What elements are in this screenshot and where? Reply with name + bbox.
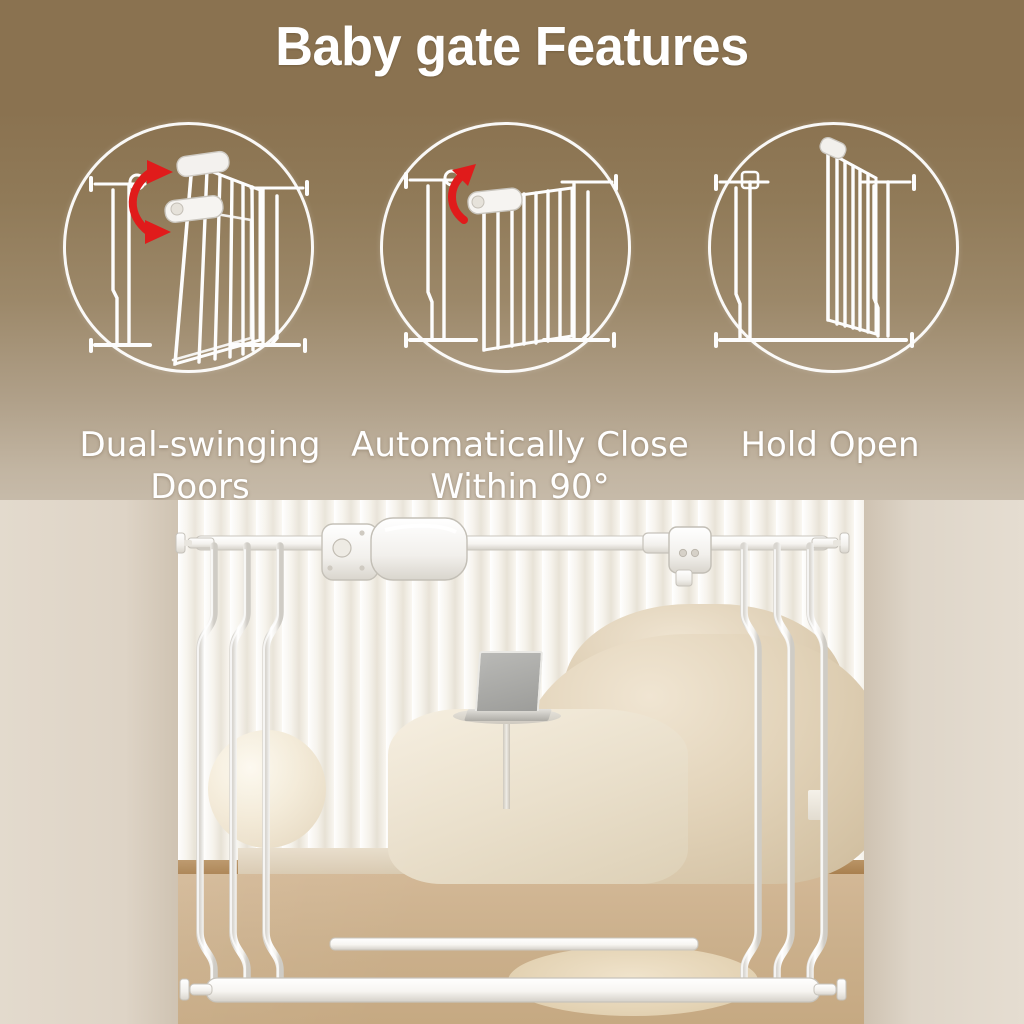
feature-label-auto-close: Automatically Close Within 90° (336, 424, 704, 508)
feature-label-hold-open: Hold Open (700, 424, 960, 466)
gate-handle-mid (164, 195, 224, 224)
feature-icon-row (0, 112, 1024, 382)
page-title: Baby gate Features (26, 14, 999, 78)
feature-circle-auto-close[interactable] (372, 112, 634, 378)
feature-circle-hold-open[interactable] (700, 112, 962, 378)
dual-swing-arrow-icon (133, 160, 173, 244)
feature-label-dual-swinging: Dual-swinging Doors (60, 424, 340, 508)
gate-auto-close-icon (372, 112, 634, 378)
infographic-root: Baby gate Features (0, 0, 1024, 1024)
gate-door-bars (318, 548, 669, 970)
gate-handle (467, 187, 523, 215)
baby-gate-product (0, 500, 1024, 1024)
gate-bottom-rail-main (206, 978, 820, 1002)
baby-gate-installed-photo (0, 500, 1024, 1024)
auto-close-latch[interactable] (643, 527, 711, 586)
gate-handle-top (176, 150, 230, 177)
gate-door-bottom-rail (330, 938, 698, 950)
gate-hold-open-icon (700, 112, 962, 378)
feature-circle-dual-swinging[interactable] (55, 112, 317, 378)
gate-handle (818, 135, 848, 160)
one-hand-open-handle[interactable] (322, 518, 467, 580)
gate-dual-swing-icon (55, 112, 317, 378)
